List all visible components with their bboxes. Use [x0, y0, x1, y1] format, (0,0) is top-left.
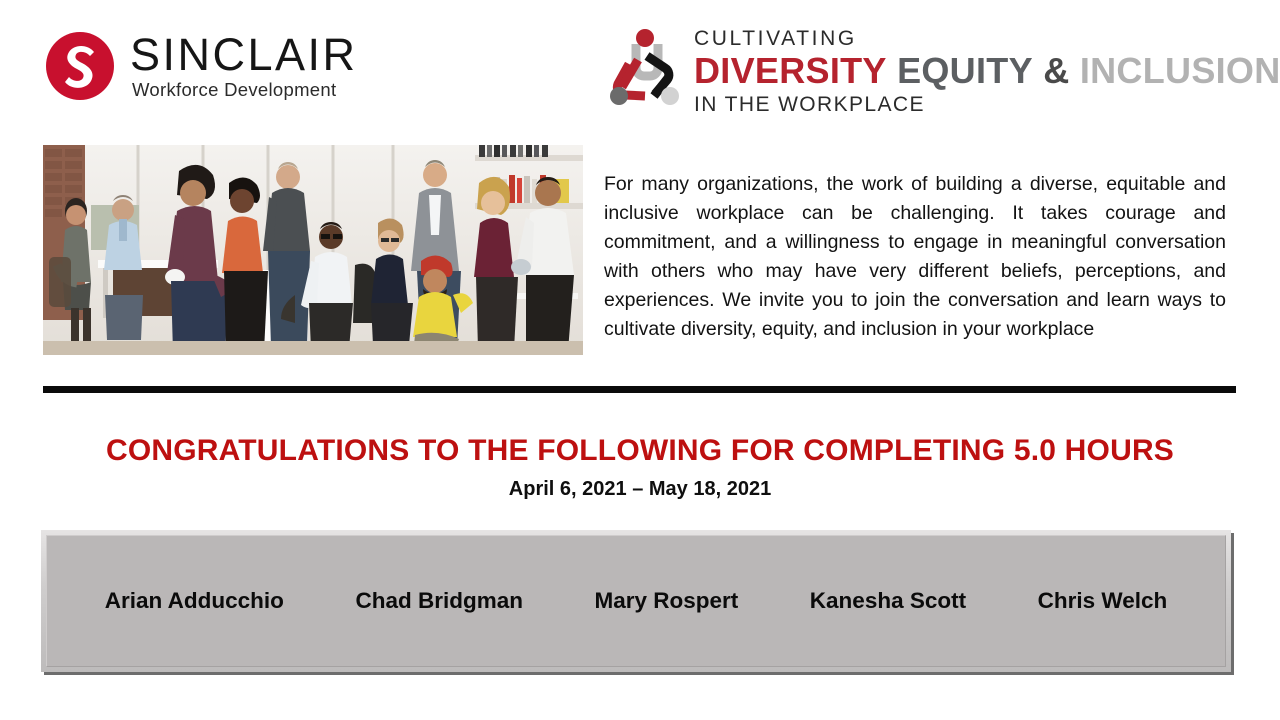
dei-line-cultivating: CULTIVATING: [694, 28, 1280, 49]
three-people-triangle-icon: [598, 24, 690, 116]
honoree-name: Arian Adducchio: [105, 588, 284, 614]
dei-word-inclusion: INCLUSION: [1080, 50, 1280, 91]
date-range: April 6, 2021 – May 18, 2021: [0, 478, 1280, 501]
honoree-name: Chris Welch: [1038, 588, 1168, 614]
dei-line-in-the-workplace: IN THE WORKPLACE: [694, 94, 1280, 115]
honorees-box: Arian Adducchio Chad Bridgman Mary Rospe…: [41, 530, 1231, 672]
office-team-photo: [43, 145, 583, 355]
dei-word-ampersand: &: [1043, 50, 1069, 91]
dei-line-main: DIVERSITY EQUITY & INCLUSION: [694, 53, 1280, 89]
honorees-list: Arian Adducchio Chad Bridgman Mary Rospe…: [46, 535, 1226, 667]
honoree-name: Kanesha Scott: [810, 588, 966, 614]
section-divider-rule: [43, 386, 1236, 393]
page-header: SINCLAIR Workforce Development CULTIVATI…: [0, 0, 1280, 124]
honoree-name: Mary Rospert: [594, 588, 738, 614]
dei-wordmark: CULTIVATING DIVERSITY EQUITY & INCLUSION…: [694, 24, 1280, 115]
congratulations-headline: CONGRATULATIONS TO THE FOLLOWING FOR COM…: [0, 434, 1280, 468]
sinclair-name: SINCLAIR: [130, 32, 358, 77]
sinclair-logo: SINCLAIR Workforce Development: [44, 30, 358, 102]
dei-word-equity: EQUITY: [897, 50, 1033, 91]
sinclair-wordmark: SINCLAIR Workforce Development: [130, 32, 358, 100]
honoree-name: Chad Bridgman: [355, 588, 523, 614]
dei-logo: CULTIVATING DIVERSITY EQUITY & INCLUSION…: [598, 24, 1280, 116]
sinclair-tagline: Workforce Development: [132, 81, 358, 100]
sinclair-s-circle-icon: [44, 30, 116, 102]
intro-paragraph: For many organizations, the work of buil…: [604, 170, 1226, 344]
dei-word-diversity: DIVERSITY: [694, 50, 887, 91]
